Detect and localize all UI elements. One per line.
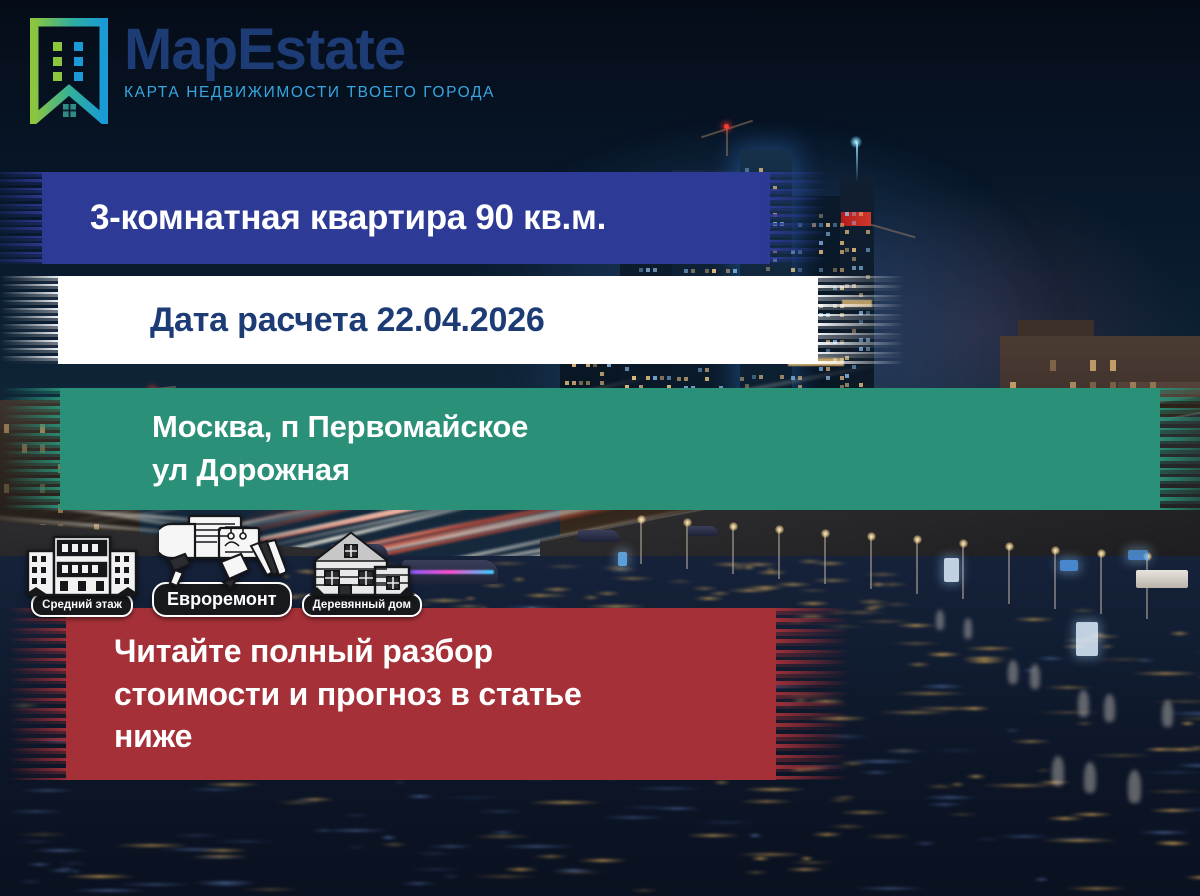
water-reflection-streak <box>488 831 517 834</box>
tower-window <box>684 269 688 273</box>
water-reflection-streak <box>1143 748 1175 751</box>
tower-window <box>845 248 849 252</box>
water-reflection-streak <box>838 811 890 814</box>
water-reflection-streak <box>178 856 256 859</box>
water-reflection-streak <box>1074 722 1095 725</box>
renovation-tools-icon <box>159 512 285 590</box>
water-reflection-streak <box>784 868 826 871</box>
street-sign <box>618 552 627 566</box>
water-reflection-streak <box>441 875 461 878</box>
water-reflection-streak <box>393 781 407 784</box>
water-reflection-streak <box>16 880 45 883</box>
water-reflection-streak <box>239 888 302 891</box>
water-reflection-streak <box>1003 729 1022 732</box>
pedestrian <box>936 610 944 630</box>
water-reflection-streak <box>1064 887 1129 890</box>
badge-renovation[interactable]: Евроремонт <box>152 512 292 617</box>
tower-window <box>691 269 695 273</box>
water-reflection-streak <box>55 862 92 865</box>
street-lamp-pole <box>1146 557 1148 619</box>
tower-window <box>667 376 671 380</box>
tower-window <box>845 212 849 216</box>
water-reflection-streak <box>479 584 509 587</box>
street-lamp-pole <box>778 530 780 579</box>
street-lamp-light <box>867 532 876 541</box>
water-reflection-streak <box>773 583 813 586</box>
pedestrian <box>1008 660 1018 684</box>
tower-window <box>572 381 576 385</box>
water-reflection-streak <box>742 566 756 569</box>
tower-window <box>791 268 795 272</box>
water-reflection-streak <box>471 835 533 838</box>
water-reflection-streak <box>1034 657 1068 660</box>
feature-badges: Средний этаж <box>22 512 422 617</box>
brush-edge-right <box>772 608 850 780</box>
tower-window <box>639 268 643 272</box>
water-reflection-streak <box>895 624 937 627</box>
tower-window <box>698 368 702 372</box>
water-reflection-streak <box>209 840 279 843</box>
tower-window <box>625 367 629 371</box>
tower-window <box>646 268 650 272</box>
water-reflection-streak <box>862 607 881 610</box>
water-reflection-streak <box>1034 769 1053 772</box>
water-reflection-streak <box>1141 790 1200 793</box>
tower-window <box>759 375 763 379</box>
water-reflection-streak <box>195 883 256 886</box>
tower-window <box>766 267 770 271</box>
water-reflection-streak <box>795 560 825 563</box>
address-city-line: Москва, п Первомайское <box>152 406 1160 449</box>
pedestrian <box>1052 756 1064 786</box>
water-reflection-streak <box>965 775 987 778</box>
water-reflection-streak <box>497 845 577 848</box>
water-reflection-streak <box>908 707 983 710</box>
tower-window <box>798 268 802 272</box>
tower-window <box>819 367 823 371</box>
water-reflection-streak <box>916 685 967 688</box>
property-type-banner: 3-комнатная квартира 90 кв.м. <box>42 172 770 264</box>
tower-window <box>653 376 657 380</box>
water-reflection-streak <box>693 597 725 600</box>
street-billboard <box>944 558 959 582</box>
street-lamp-pole <box>686 523 688 569</box>
tower-window <box>586 381 590 385</box>
street-billboard <box>1076 622 1098 656</box>
water-reflection-streak <box>195 849 250 852</box>
water-reflection-streak <box>1045 817 1085 820</box>
tower-window <box>705 368 709 372</box>
street-lamp-light <box>637 515 646 524</box>
water-reflection-streak <box>754 571 789 574</box>
water-reflection-streak <box>712 781 731 784</box>
tower-window <box>866 248 870 252</box>
badge-mid-floor[interactable]: Средний этаж <box>22 529 142 617</box>
water-reflection-streak <box>1099 645 1116 648</box>
mid-rise-building-icon <box>22 529 142 601</box>
water-reflection-streak <box>435 796 511 799</box>
brand-logo[interactable]: MapEstate КАРТА НЕДВИЖИМОСТИ ТВОЕГО ГОРО… <box>30 18 495 124</box>
water-reflection-streak <box>890 692 970 695</box>
water-reflection-streak <box>750 857 771 860</box>
tower-window <box>833 223 837 227</box>
building-window <box>1050 360 1056 371</box>
tower-window <box>677 377 681 381</box>
street-lamp-pole <box>732 527 734 574</box>
water-reflection-streak <box>830 796 859 799</box>
water-reflection-streak <box>593 592 622 595</box>
tower-window <box>726 269 730 273</box>
water-reflection-streak <box>609 577 656 580</box>
water-reflection-streak <box>742 586 788 589</box>
brand-wordmark: MapEstate <box>124 22 495 78</box>
address-banner: Москва, п Первомайское ул Дорожная <box>60 388 1160 510</box>
tower-window <box>845 374 849 378</box>
tower-window <box>845 230 849 234</box>
pedestrian <box>1084 762 1096 793</box>
tower-window <box>819 268 823 272</box>
water-reflection-streak <box>690 587 719 590</box>
banner-content: Москва, п Первомайское ул Дорожная <box>60 406 1160 492</box>
water-reflection-streak <box>855 600 887 603</box>
pedestrian <box>964 618 972 639</box>
water-reflection-streak <box>411 852 456 855</box>
water-reflection-streak <box>168 834 226 837</box>
water-reflection-streak <box>949 783 966 786</box>
tower-window <box>712 269 716 273</box>
water-reflection-streak <box>338 814 374 817</box>
water-reflection-streak <box>627 787 708 790</box>
tower-window <box>859 266 863 270</box>
tower-spire <box>856 142 858 182</box>
water-reflection-streak <box>406 868 466 871</box>
water-reflection-streak <box>747 834 763 837</box>
street-lamp-pole <box>824 534 826 584</box>
water-reflection-streak <box>183 788 247 791</box>
water-reflection-streak <box>1012 618 1056 621</box>
water-reflection-streak <box>707 592 732 595</box>
brush-edge-right <box>1156 388 1200 510</box>
street-lamp-light <box>1051 546 1060 555</box>
water-reflection-streak <box>1068 813 1114 816</box>
brush-edge-right <box>814 276 904 364</box>
tower-window <box>826 367 830 371</box>
tower-window <box>845 383 849 387</box>
water-reflection-streak <box>979 784 1061 787</box>
pedestrian <box>1030 664 1040 689</box>
tower-window <box>840 250 844 254</box>
street-lamp-pole <box>1100 554 1102 614</box>
tower-window <box>740 377 744 381</box>
water-reflection-streak <box>1087 754 1155 757</box>
tower-window <box>859 212 863 216</box>
tower-window <box>579 381 583 385</box>
address-street-line: ул Дорожная <box>152 449 1160 492</box>
water-reflection-streak <box>63 875 137 878</box>
water-reflection-streak <box>1034 711 1104 714</box>
tower-window <box>852 221 856 225</box>
spire-beacon-light <box>850 136 862 148</box>
water-reflection-streak <box>532 855 569 858</box>
river-boat <box>578 530 620 542</box>
cta-line-3: ниже <box>114 715 776 758</box>
cta-line-2: стоимости и прогноз в статье <box>114 673 776 716</box>
street-lamp-light <box>959 539 968 548</box>
street-lamp-pole <box>962 544 964 599</box>
water-reflection-streak <box>540 588 574 591</box>
wooden-house-icon <box>307 527 417 601</box>
water-reflection-streak <box>924 653 958 656</box>
water-reflection-streak <box>68 889 151 892</box>
brush-edge-right <box>766 172 828 264</box>
water-reflection-streak <box>577 859 628 862</box>
promo-poster: MapEstate КАРТА НЕДВИЖИМОСТИ ТВОЕГО ГОРО… <box>0 0 1200 896</box>
water-reflection-streak <box>743 871 769 874</box>
water-reflection-streak <box>426 845 476 848</box>
badge-wooden-house[interactable]: Деревянный дом <box>302 527 422 617</box>
water-reflection-streak <box>598 816 669 819</box>
road-sign <box>1060 560 1078 571</box>
water-reflection-streak <box>1130 672 1200 675</box>
water-reflection-streak <box>851 887 929 890</box>
street-lamp-light <box>1097 549 1106 558</box>
tower-window <box>852 248 856 252</box>
water-reflection-streak <box>825 799 855 802</box>
water-reflection-streak <box>1043 686 1094 689</box>
pedestrian <box>1128 770 1141 803</box>
water-reflection-streak <box>963 647 1017 650</box>
water-reflection-streak <box>1151 841 1186 844</box>
water-reflection-streak <box>274 801 322 804</box>
tower-window <box>660 376 664 380</box>
water-reflection-streak <box>113 844 191 847</box>
water-reflection-streak <box>527 801 603 804</box>
street-lamp-pole <box>1054 551 1056 609</box>
water-reflection-streak <box>114 883 196 886</box>
brush-edge-left <box>0 172 46 264</box>
water-reflection-streak <box>69 870 83 873</box>
water-reflection-streak <box>665 580 695 583</box>
cta-line-1: Читайте полный разбор <box>114 630 776 673</box>
water-reflection-streak <box>1179 722 1196 725</box>
crane-warning-light <box>724 124 729 129</box>
banner-content: Читайте полный разбор стоимости и прогно… <box>66 630 776 758</box>
water-reflection-streak <box>1033 878 1050 881</box>
water-reflection-streak <box>469 875 540 878</box>
water-reflection-streak <box>581 596 601 599</box>
tower-window <box>840 241 844 245</box>
water-reflection-streak <box>511 578 527 581</box>
water-reflection-streak <box>202 783 262 786</box>
tower-window <box>653 268 657 272</box>
pedestrian <box>1104 694 1115 722</box>
tower-window <box>852 257 856 261</box>
pedestrian <box>1078 690 1089 717</box>
tower-window <box>840 376 844 380</box>
tower-window <box>565 381 569 385</box>
water-reflection-streak <box>827 825 868 828</box>
water-reflection-streak <box>741 788 808 791</box>
river-boat <box>688 526 718 536</box>
tower-window <box>852 212 856 216</box>
bookmark-building-icon <box>30 18 108 124</box>
water-reflection-streak <box>1133 659 1157 662</box>
brand-tagline: КАРТА НЕДВИЖИМОСТИ ТВОЕГО ГОРОДА <box>124 84 495 102</box>
water-reflection-streak <box>404 795 436 798</box>
water-reflection-streak <box>810 833 844 836</box>
property-type-text: 3-комнатная квартира 90 кв.м. <box>90 198 770 238</box>
street-lamp-pole <box>640 520 642 564</box>
water-reflection-streak <box>944 813 980 816</box>
water-reflection-streak <box>862 573 903 576</box>
street-lamp-pole <box>870 537 872 589</box>
tower-window <box>833 268 837 272</box>
water-reflection-streak <box>628 889 660 892</box>
tower-window <box>852 266 856 270</box>
tower-window <box>752 375 756 379</box>
water-reflection-streak <box>973 838 1003 841</box>
water-reflection-streak <box>379 843 409 846</box>
water-reflection-streak <box>473 810 527 813</box>
water-reflection-streak <box>738 800 795 803</box>
water-reflection-streak <box>794 589 832 592</box>
water-reflection-streak <box>1188 746 1200 749</box>
water-reflection-streak <box>1067 609 1099 612</box>
street-lamp-pole <box>1008 547 1010 604</box>
water-reflection-streak <box>794 602 832 605</box>
water-reflection-streak <box>17 789 79 792</box>
tower-window <box>780 375 784 379</box>
city-bus <box>1136 570 1188 588</box>
brush-edge-left <box>8 608 70 780</box>
water-reflection-streak <box>855 620 915 623</box>
water-reflection-streak <box>810 579 854 582</box>
water-reflection-streak <box>26 863 53 866</box>
water-reflection-streak <box>962 660 1007 663</box>
water-reflection-streak <box>920 796 980 799</box>
calculation-date-text: Дата расчета 22.04.2026 <box>150 301 818 340</box>
water-reflection-streak <box>1136 831 1192 834</box>
water-reflection-streak <box>788 861 835 864</box>
water-reflection-streak <box>924 803 965 806</box>
water-reflection-streak <box>399 882 438 885</box>
building-window <box>1110 360 1116 371</box>
water-reflection-streak <box>879 603 914 606</box>
water-reflection-streak <box>502 868 539 871</box>
brush-edge-left <box>2 388 64 510</box>
water-reflection-streak <box>735 853 806 856</box>
tower-window <box>733 269 737 273</box>
water-reflection-streak <box>1009 740 1053 743</box>
water-reflection-streak <box>312 829 334 832</box>
water-reflection-streak <box>541 565 587 568</box>
tower-window <box>600 372 604 376</box>
water-reflection-streak <box>799 857 814 860</box>
water-reflection-streak <box>345 846 368 849</box>
water-reflection-streak <box>885 749 921 752</box>
water-reflection-streak <box>685 834 741 837</box>
brush-edge-left <box>0 276 62 364</box>
water-reflection-streak <box>960 657 1008 660</box>
calculation-date-banner: Дата расчета 22.04.2026 <box>58 276 818 364</box>
water-reflection-streak <box>463 597 478 600</box>
water-reflection-streak <box>617 806 676 809</box>
water-reflection-streak <box>690 821 761 824</box>
banner-content: Дата расчета 22.04.2026 <box>58 301 818 340</box>
street-lamp-light <box>729 522 738 531</box>
street-lamp-pole <box>916 540 918 594</box>
street-lamp-light <box>821 529 830 538</box>
water-reflection-streak <box>31 849 89 852</box>
water-reflection-streak <box>418 599 471 602</box>
banner-content: 3-комнатная квартира 90 кв.м. <box>42 198 770 238</box>
water-reflection-streak <box>874 583 910 586</box>
water-reflection-streak <box>905 663 932 666</box>
tower-window <box>684 377 688 381</box>
cta-banner: Читайте полный разбор стоимости и прогно… <box>66 608 776 780</box>
water-reflection-streak <box>858 771 894 774</box>
water-reflection-streak <box>912 842 939 845</box>
water-reflection-streak <box>1168 632 1191 635</box>
water-reflection-streak <box>16 833 70 836</box>
water-reflection-streak <box>379 836 398 839</box>
tower-window <box>866 230 870 234</box>
water-reflection-streak <box>925 749 988 752</box>
water-reflection-streak <box>551 869 596 872</box>
construction-crane <box>726 128 728 156</box>
water-reflection-streak <box>12 840 59 843</box>
water-reflection-streak <box>597 566 634 569</box>
pedestrian <box>1162 700 1173 727</box>
water-reflection-streak <box>1043 837 1108 840</box>
water-reflection-streak <box>864 835 912 838</box>
road-sign <box>1128 550 1148 560</box>
tower-window <box>705 269 709 273</box>
tower-window <box>705 377 709 381</box>
tower-window <box>840 223 844 227</box>
water-reflection-streak <box>5 810 67 813</box>
building-window <box>1090 360 1096 371</box>
water-reflection-streak <box>875 711 954 714</box>
water-reflection-streak <box>890 642 942 645</box>
tower-window <box>840 268 844 272</box>
water-reflection-streak <box>522 594 558 597</box>
